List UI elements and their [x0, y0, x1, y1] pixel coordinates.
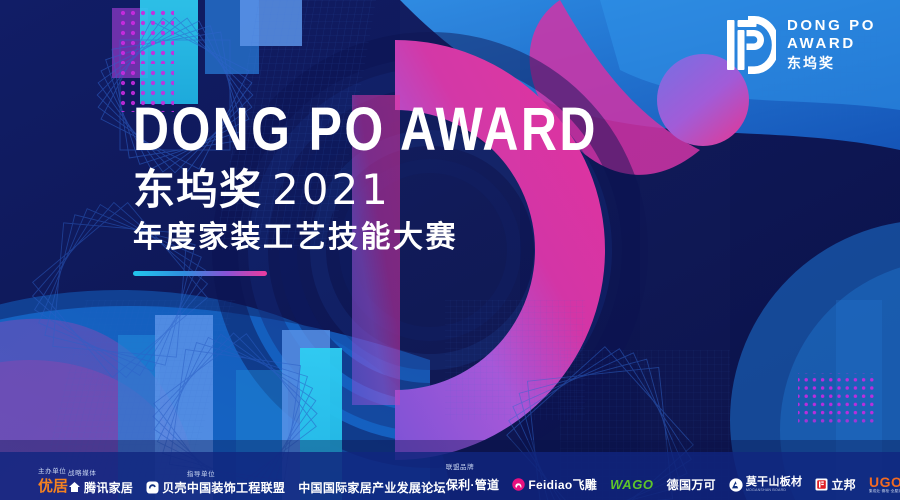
beike-logo[interactable]: 贝壳 [146, 481, 187, 494]
sponsor-group-organizer: 主办单位 优居 [38, 465, 68, 494]
sponsor-group-media: 战略媒体 腾讯家居 贝壳 [68, 467, 187, 494]
sponsor-group-brands: 联盟品牌 保利·管道 Feidiao飞雕 WAGO 德国万可 [446, 461, 900, 494]
youju-logo[interactable]: 优居 [38, 479, 68, 494]
beike-label: 贝壳 [162, 482, 187, 494]
tencent-home-logo[interactable]: 腾讯家居 [68, 481, 133, 494]
sponsor-kicker: 指导单位 [187, 468, 446, 478]
nippon-paint-logo[interactable]: 立邦 [815, 478, 856, 491]
page-title: DONG PO AWARD [133, 98, 546, 162]
moganshan-board-logo[interactable]: 莫干山板材 MOGANSHAN BOARD [729, 477, 803, 493]
nippon-mark-icon [815, 478, 828, 491]
gradient-divider [133, 271, 267, 276]
poly-pipe-logo[interactable]: 保利·管道 [446, 479, 500, 491]
nippon-paint-label: 立邦 [831, 479, 856, 491]
logo-line-3: 东坞奖 [787, 54, 876, 73]
china-intl-home-industry-forum-logo[interactable]: 中国国际家居产业发展论坛 [298, 482, 446, 494]
disc-icon [146, 481, 159, 494]
feidiao-logo[interactable]: Feidiao飞雕 [512, 478, 597, 491]
logo-wordmark: DONG PO AWARD 东坞奖 [787, 17, 876, 73]
sponsor-kicker: 联盟品牌 [446, 461, 900, 471]
moganshan-label: 莫干山板材 [746, 477, 803, 488]
forum-label: 中国国际家居产业发展论坛 [298, 482, 446, 494]
mountain-icon [729, 478, 743, 492]
headline-block: DONG PO AWARD 东坞奖 2021 年度家装工艺技能大赛 [133, 98, 563, 276]
poly-pipe-label: 保利·管道 [446, 479, 500, 491]
alliance-label: 中国装饰工程联盟 [187, 482, 285, 494]
youju-logo-label: 优居 [38, 479, 68, 494]
ugo-sublabel: 集成灶·橱柜·全屋定制 [869, 490, 900, 494]
moganshan-sublabel: MOGANSHAN BOARD [746, 489, 803, 493]
feidiao-label: Feidiao飞雕 [528, 479, 597, 491]
dot-grid-bottom-right [798, 373, 876, 415]
ugo-label: UGO [869, 475, 900, 489]
logo-line-2: AWARD [787, 35, 876, 53]
house-icon [68, 481, 81, 494]
tencent-home-label: 腾讯家居 [84, 482, 133, 494]
subtitle: 年度家装工艺技能大赛 [133, 221, 563, 255]
elephant-icon [512, 478, 525, 491]
sponsor-group-guidance: 指导单位 中国装饰工程联盟 中国国际家居产业发展论坛 [187, 468, 446, 494]
title-secondary-row: 东坞奖 2021 [133, 168, 563, 212]
wago-cn-label: 德国万可 [667, 479, 716, 491]
ugo-logo[interactable]: UGO 优格 集成灶·橱柜·全屋定制 [869, 475, 900, 494]
logo-line-1: DONG PO [787, 17, 876, 35]
dot-grid-top-left [118, 8, 174, 64]
sponsor-bar: 主办单位 优居 战略媒体 腾讯家居 [0, 452, 900, 500]
wago-label: WAGO [610, 478, 654, 491]
brand-logo-lockup: DONG PO AWARD 东坞奖 [726, 16, 876, 74]
wago-cn-logo[interactable]: 德国万可 [667, 479, 716, 491]
sponsor-kicker: 主办单位 [38, 465, 68, 475]
title-year: 2021 [272, 168, 391, 212]
promotional-banner: DONG PO AWARD 东坞奖 2021 年度家装工艺技能大赛 [0, 0, 900, 500]
title-chinese: 东坞奖 [133, 168, 262, 212]
sponsor-kicker: 战略媒体 [68, 467, 187, 477]
wago-logo[interactable]: WAGO [610, 478, 654, 491]
dp-monogram-icon [726, 16, 776, 74]
china-decoration-engineering-alliance-logo[interactable]: 中国装饰工程联盟 [187, 482, 285, 494]
